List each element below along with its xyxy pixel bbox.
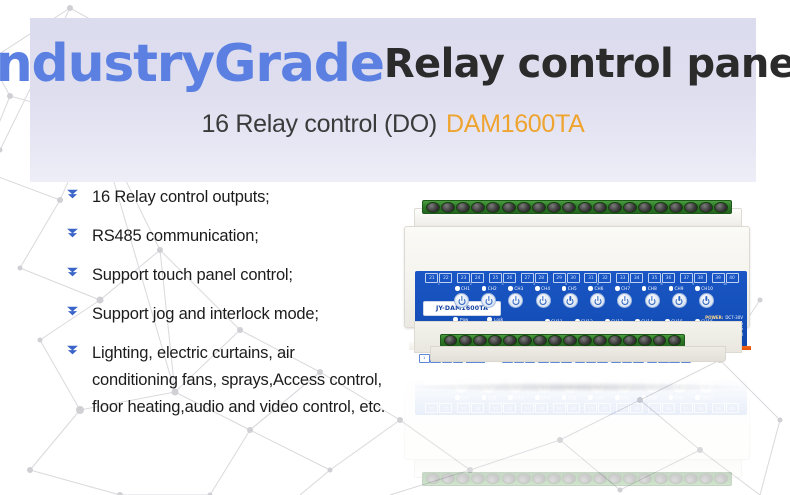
channel-indicator: CH7 [615,395,630,400]
terminal-number-group: 394010 [709,273,741,284]
channel-led [562,286,567,291]
terminal-number-box: 37 [680,273,693,283]
terminal-number-box: 40 [726,273,739,283]
channel-label: CH8 [648,286,657,291]
terminal-number-box: 24 [471,273,484,283]
channel-power-button[interactable] [536,293,551,308]
channel-indicator: CH3 [508,286,523,291]
channel-label-row-1: CH1CH2CH3CH4CH5CH6CH7CH8CH9CH10 [455,286,713,291]
channel-led [695,395,700,400]
terminal-screw [669,474,683,485]
terminal-number-box: 35 [648,273,661,283]
terminal-screw [502,474,516,485]
terminal-number-box: 34 [630,403,643,413]
terminal-screw[interactable] [444,335,458,346]
terminal-screw[interactable] [714,202,728,213]
terminal-screw[interactable] [518,335,532,346]
page-title: IndustryGrade Relay control panel [30,33,756,95]
channel-led [508,395,513,400]
terminal-number-box: 24 [471,403,484,413]
terminal-number-group: 27284 [518,402,550,413]
terminal-number-box: 38 [694,273,707,283]
terminal-screw[interactable] [699,202,713,213]
terminal-number-box: 26 [503,403,516,413]
terminal-number-box: 36 [662,273,675,283]
terminal-screw[interactable] [578,202,592,213]
terminal-number-box: 32 [598,273,611,283]
terminal-screw [547,474,561,485]
terminal-screw[interactable] [533,335,547,346]
terminal-screw [532,474,546,485]
channel-label: CH4 [541,395,550,400]
subtitle-model: DAM1600TA [446,110,585,139]
terminal-screw[interactable] [669,202,683,213]
channel-indicator: CH2 [482,286,497,291]
double-chevron-down-icon [66,305,83,318]
page-subtitle: 16 Relay control (DO) DAM1600TA [30,108,756,140]
channel-led [508,286,513,291]
channel-indicator: CH1 [455,286,470,291]
channel-led [562,395,567,400]
product-image-relay-module: 2122123242252632728429305313263334735368… [400,188,752,388]
terminal-screw [517,474,531,485]
channel-indicator: CH10 [695,395,713,400]
terminal-number-group: 33347 [614,402,646,413]
feature-item-line: Support touch panel control; [92,262,293,289]
channel-label: CH10 [701,286,713,291]
terminal-number-group: 31326 [582,273,614,284]
channel-indicator: CH9 [669,286,684,291]
terminal-screw [684,474,698,485]
channel-indicator: CH5 [562,286,577,291]
feature-item-line: Lighting, electric curtains, air [92,340,385,367]
terminal-number-box: 37 [680,403,693,413]
terminal-screw[interactable] [593,335,607,346]
channel-led [535,395,540,400]
channel-led [535,286,540,291]
terminal-screw[interactable] [503,335,517,346]
terminal-number-box: 28 [535,403,548,413]
terminal-screw[interactable] [488,335,502,346]
feature-item-line: RS485 communication; [92,223,259,250]
feature-item-line: conditioning fans, sprays,Access control… [92,367,385,394]
terminal-screw[interactable] [532,202,546,213]
terminal-screw [608,474,622,485]
terminal-number-group: 35368 [646,402,678,413]
channel-power-button[interactable] [617,293,632,308]
terminal-screw[interactable] [623,335,637,346]
channel-led [588,286,593,291]
channel-led [642,395,647,400]
terminal-screw[interactable] [654,202,668,213]
channel-led [669,395,674,400]
terminal-number-box: 21 [425,273,438,283]
feature-item-text: 16 Relay control outputs; [92,184,270,211]
terminal-screw [486,474,500,485]
channel-label: CH2 [488,286,497,291]
terminal-number-group: 25263 [487,402,519,413]
terminal-number-box: 25 [489,403,502,413]
channel-indicator: CH6 [588,286,603,291]
terminal-screw[interactable] [548,335,562,346]
channel-power-button[interactable] [672,293,687,308]
terminal-screw [654,474,668,485]
channel-led [615,395,620,400]
top-terminal-number-row: 2122123242252632728429305313263334735368… [423,273,741,284]
device-case-foot [430,346,726,362]
channel-indicator: CH4 [535,286,550,291]
terminal-screw[interactable] [473,335,487,346]
title-secondary: Relay control panel [384,41,790,87]
channel-label: CH4 [541,286,550,291]
channel-label: CH10 [701,395,713,400]
terminal-group-number: 6 [597,400,599,404]
terminal-screw [638,474,652,485]
terminal-number-group: 25263 [487,273,519,284]
terminal-number-box: 39 [712,403,725,413]
terminal-group-number: 3 [501,400,503,404]
double-chevron-down-icon [66,227,83,240]
terminal-screw[interactable] [593,202,607,213]
channel-label: CH5 [568,395,577,400]
channel-led [482,286,487,291]
terminal-screw [441,474,455,485]
terminal-number-box: 34 [630,273,643,283]
terminal-number-box: 32 [598,403,611,413]
terminal-group-number: 8 [660,400,662,404]
terminal-number-box: 29 [553,273,566,283]
product-banner: IndustryGrade Relay control panel 16 Rel… [0,0,790,495]
channel-label: CH7 [621,395,630,400]
channel-indicator: CH3 [508,395,523,400]
terminal-group-number: 4 [533,400,535,404]
feature-item-text: Support touch panel control; [92,262,293,289]
channel-led [615,286,620,291]
double-chevron-down-icon [66,266,83,279]
terminal-screw [426,474,440,485]
feature-item-text: Support jog and interlock mode; [92,301,319,328]
channel-indicator: CH10 [695,286,713,291]
channel-indicator: CH8 [642,395,657,400]
terminal-number-box: 27 [521,403,534,413]
terminal-screw[interactable] [471,202,485,213]
channel-power-button[interactable] [454,293,469,308]
terminal-number-group: 33347 [614,273,646,284]
terminal-number-box: 26 [503,273,516,283]
channel-label: CH2 [488,395,497,400]
terminal-screw [578,474,592,485]
terminal-screw [562,474,576,485]
terminal-group-number: 2 [470,400,472,404]
terminal-number-box: 36 [662,403,675,413]
channel-power-button[interactable] [645,293,660,308]
channel-power-button[interactable] [590,293,605,308]
terminal-screw[interactable] [608,335,622,346]
channel-label: CH3 [514,286,523,291]
terminal-screw[interactable] [547,202,561,213]
channel-led [642,286,647,291]
terminal-number-box: 23 [457,273,470,283]
channel-power-button[interactable] [563,293,578,308]
channel-led [695,286,700,291]
terminal-number-group: 23242 [455,273,487,284]
terminal-group-number: 5 [565,400,567,404]
terminal-number-box: 27 [521,273,534,283]
terminal-screw[interactable] [459,335,473,346]
terminal-group-number: 10 [723,400,727,404]
terminal-screw [623,474,637,485]
channel-led [482,395,487,400]
terminal-group-number: 10 [723,282,727,286]
feature-item-text: RS485 communication; [92,223,259,250]
terminal-screw[interactable] [456,202,470,213]
channel-label: CH3 [514,395,523,400]
terminal-number-group: 394010 [709,402,741,413]
channel-indicator: CH6 [588,395,603,400]
top-terminal-block [422,200,732,214]
terminal-number-box: 33 [616,273,629,283]
terminal-number-group: 29305 [550,402,582,413]
terminal-screw[interactable] [441,202,455,213]
terminal-screw [456,474,470,485]
terminal-screw[interactable] [517,202,531,213]
channel-indicator: CH2 [482,395,497,400]
terminal-screw [699,474,713,485]
channel-power-button[interactable] [699,293,714,308]
terminal-number-box: 30 [567,403,580,413]
terminal-number-box: 33 [616,403,629,413]
channel-led [669,286,674,291]
terminal-screw[interactable] [653,335,667,346]
terminal-number-box: 28 [535,273,548,283]
terminal-screw [593,474,607,485]
terminal-number-group: 29305 [550,273,582,284]
top-terminal-number-row: 2122123242252632728429305313263334735368… [423,402,741,413]
terminal-group-number: 7 [629,400,631,404]
double-chevron-down-icon [66,344,83,357]
terminal-screw[interactable] [486,202,500,213]
terminal-number-box: 29 [553,403,566,413]
terminal-screw [471,474,485,485]
channel-label-row-1: CH1CH2CH3CH4CH5CH6CH7CH8CH9CH10 [455,395,713,400]
terminal-screw[interactable] [502,202,516,213]
terminal-screw[interactable] [638,335,652,346]
terminal-screw[interactable] [578,335,592,346]
terminal-number-group: 27284 [518,273,550,284]
terminal-number-group: 37389 [677,402,709,413]
terminal-screw[interactable] [668,335,682,346]
channel-indicator: CH7 [615,286,630,291]
channel-label: CH5 [568,286,577,291]
terminal-number-box: 31 [584,403,597,413]
channel-label: CH7 [621,286,630,291]
terminal-screw[interactable] [638,202,652,213]
terminal-number-box: 31 [584,273,597,283]
channel-label: CH6 [594,395,603,400]
channel-button-row-1 [454,293,714,308]
terminal-group-number: 9 [692,400,694,404]
terminal-number-box: 40 [726,403,739,413]
terminal-number-group: 31326 [582,402,614,413]
top-terminal-block [422,472,732,486]
terminal-number-group: 35368 [646,273,678,284]
terminal-number-box: 30 [567,273,580,283]
channel-label: CH8 [648,395,657,400]
channel-led [455,286,460,291]
feature-item-line: Support jog and interlock mode; [92,301,319,328]
subtitle-text: 16 Relay control (DO) [201,110,436,139]
channel-label: CH9 [675,286,684,291]
double-chevron-down-icon [66,188,83,201]
channel-indicator: CH5 [562,395,577,400]
channel-indicator: CH9 [669,395,684,400]
device-case-body: 2122123242252632728429305313263334735368… [404,226,750,328]
terminal-screw[interactable] [426,202,440,213]
terminal-screw[interactable] [608,202,622,213]
terminal-number-group: 21221 [423,273,455,284]
terminal-screw[interactable] [562,202,576,213]
title-primary: IndustryGrade [0,34,384,94]
terminal-screw [714,474,728,485]
terminal-group-number: 1 [438,282,440,286]
terminal-number-box: 25 [489,273,502,283]
channel-label: CH9 [675,395,684,400]
terminal-screw[interactable] [623,202,637,213]
terminal-number-box: 38 [694,403,707,413]
feature-item-line: floor heating,audio and video control, e… [92,394,385,421]
channel-indicator: CH4 [535,395,550,400]
channel-label: CH1 [461,286,470,291]
terminal-number-box: 35 [648,403,661,413]
channel-label: CH6 [594,286,603,291]
feature-item-line: 16 Relay control outputs; [92,184,270,211]
channel-led [588,395,593,400]
feature-item-text: Lighting, electric curtains, airconditio… [92,340,385,421]
terminal-number-box: 22 [439,273,452,283]
terminal-screw[interactable] [684,202,698,213]
channel-indicator: CH8 [642,286,657,291]
channel-power-button[interactable] [508,293,523,308]
terminal-screw[interactable] [563,335,577,346]
bottom-terminal-box: 1 [419,354,430,363]
terminal-number-group: 37389 [677,273,709,284]
channel-power-button[interactable] [481,293,496,308]
